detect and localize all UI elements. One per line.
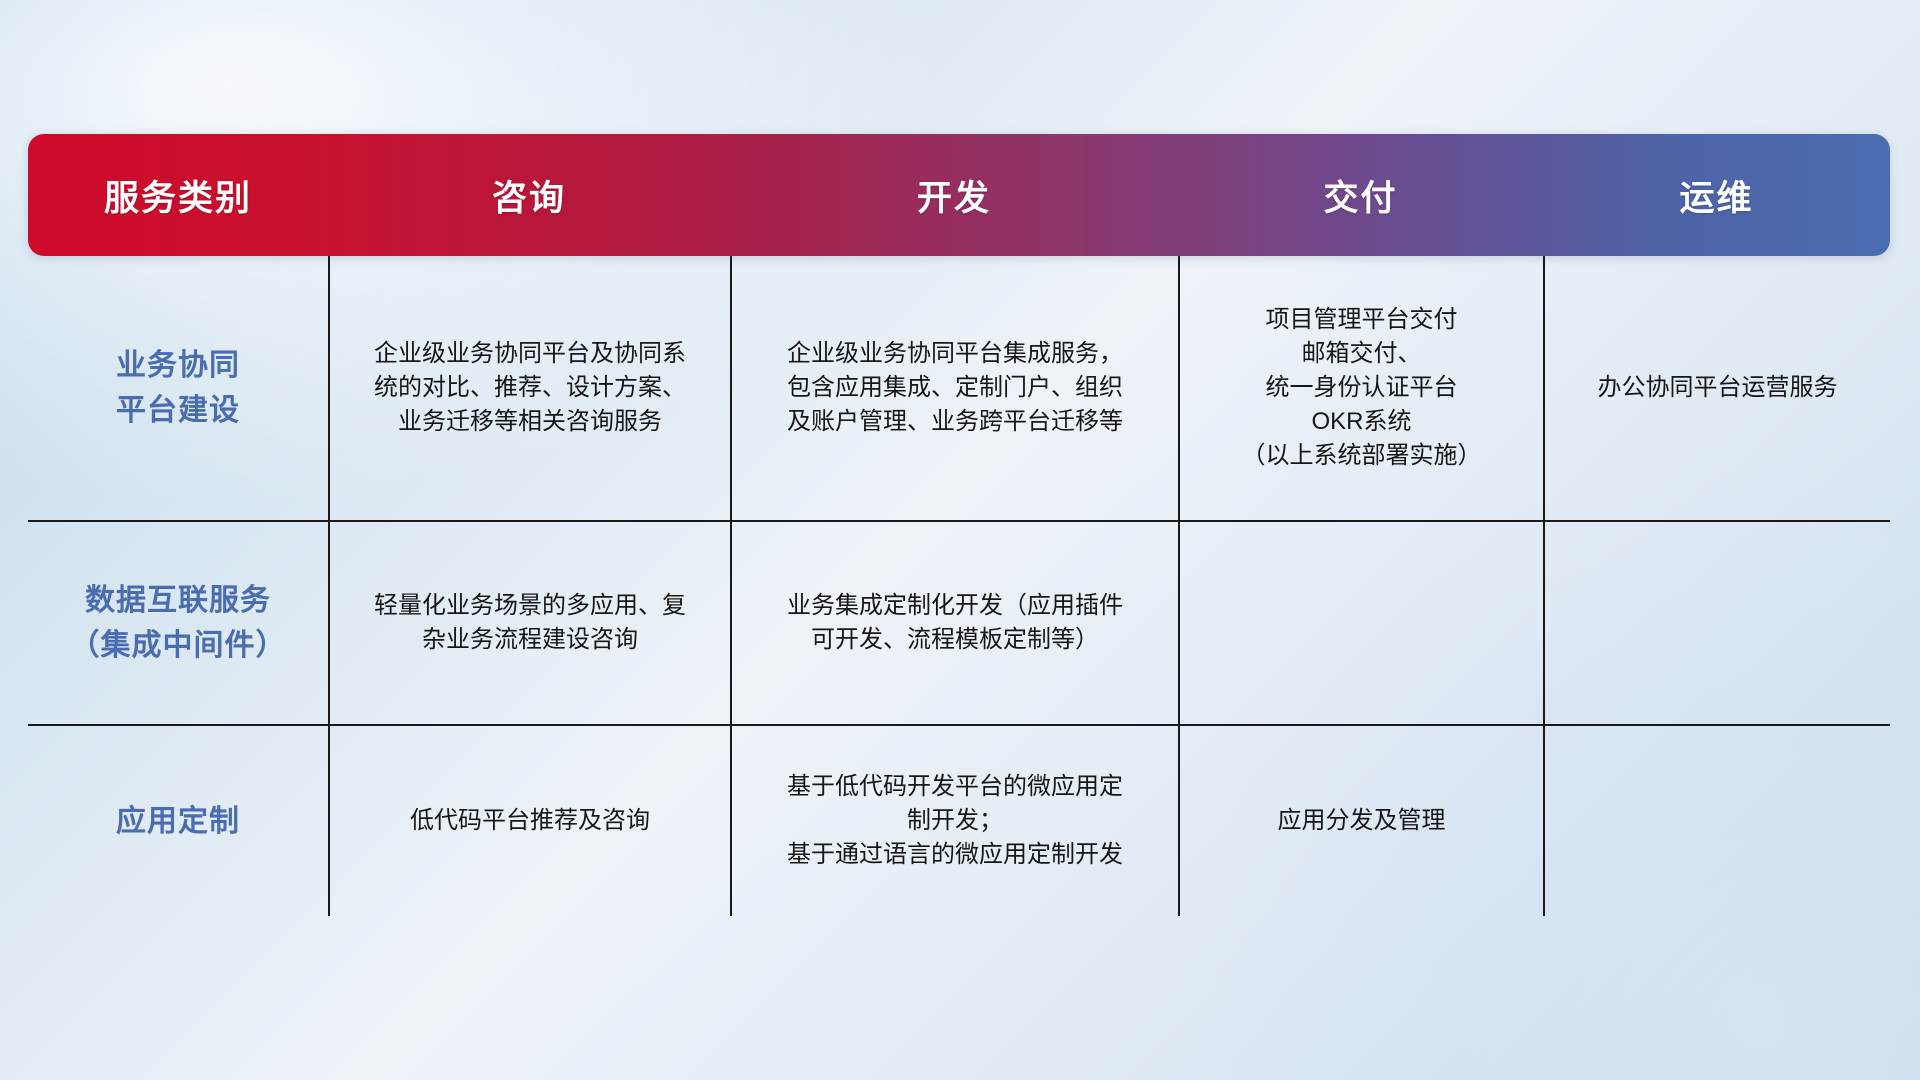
cell-category: 应用定制 [28,726,328,916]
cell-delivery: 项目管理平台交付 邮箱交付、 统一身份认证平台 OKR系统 （以上系统部署实施） [1178,256,1543,520]
cell-delivery: 应用分发及管理 [1178,726,1543,916]
page-canvas: 服务类别 咨询 开发 交付 运维 业务协同 平台建设 企业级业务协同平台及协同系… [0,0,1920,1080]
column-header-development: 开发 [730,170,1178,221]
cell-consulting: 低代码平台推荐及咨询 [328,726,730,916]
cell-operations [1543,726,1890,916]
column-header-delivery: 交付 [1178,170,1543,221]
cell-consulting: 轻量化业务场景的多应用、复 杂业务流程建设咨询 [328,522,730,724]
table-row: 业务协同 平台建设 企业级业务协同平台及协同系 统的对比、推荐、设计方案、 业务… [28,256,1890,520]
table-body: 业务协同 平台建设 企业级业务协同平台及协同系 统的对比、推荐、设计方案、 业务… [28,256,1890,916]
cell-operations [1543,522,1890,724]
table-header-row: 服务类别 咨询 开发 交付 运维 [28,134,1890,256]
cell-development: 企业级业务协同平台集成服务， 包含应用集成、定制门户、组织 及账户管理、业务跨平… [730,256,1178,520]
cell-delivery [1178,522,1543,724]
column-header-category: 服务类别 [28,170,328,221]
table-row: 数据互联服务 （集成中间件） 轻量化业务场景的多应用、复 杂业务流程建设咨询 业… [28,520,1890,724]
column-header-consulting: 咨询 [328,170,730,221]
table-row: 应用定制 低代码平台推荐及咨询 基于低代码开发平台的微应用定 制开发； 基于通过… [28,724,1890,916]
cell-development: 基于低代码开发平台的微应用定 制开发； 基于通过语言的微应用定制开发 [730,726,1178,916]
cell-category: 业务协同 平台建设 [28,256,328,520]
service-matrix-table: 服务类别 咨询 开发 交付 运维 业务协同 平台建设 企业级业务协同平台及协同系… [28,134,1890,954]
cell-category: 数据互联服务 （集成中间件） [28,522,328,724]
column-header-operations: 运维 [1543,170,1890,221]
cell-consulting: 企业级业务协同平台及协同系 统的对比、推荐、设计方案、 业务迁移等相关咨询服务 [328,256,730,520]
cell-development: 业务集成定制化开发（应用插件 可开发、流程模板定制等） [730,522,1178,724]
cell-operations: 办公协同平台运营服务 [1543,256,1890,520]
